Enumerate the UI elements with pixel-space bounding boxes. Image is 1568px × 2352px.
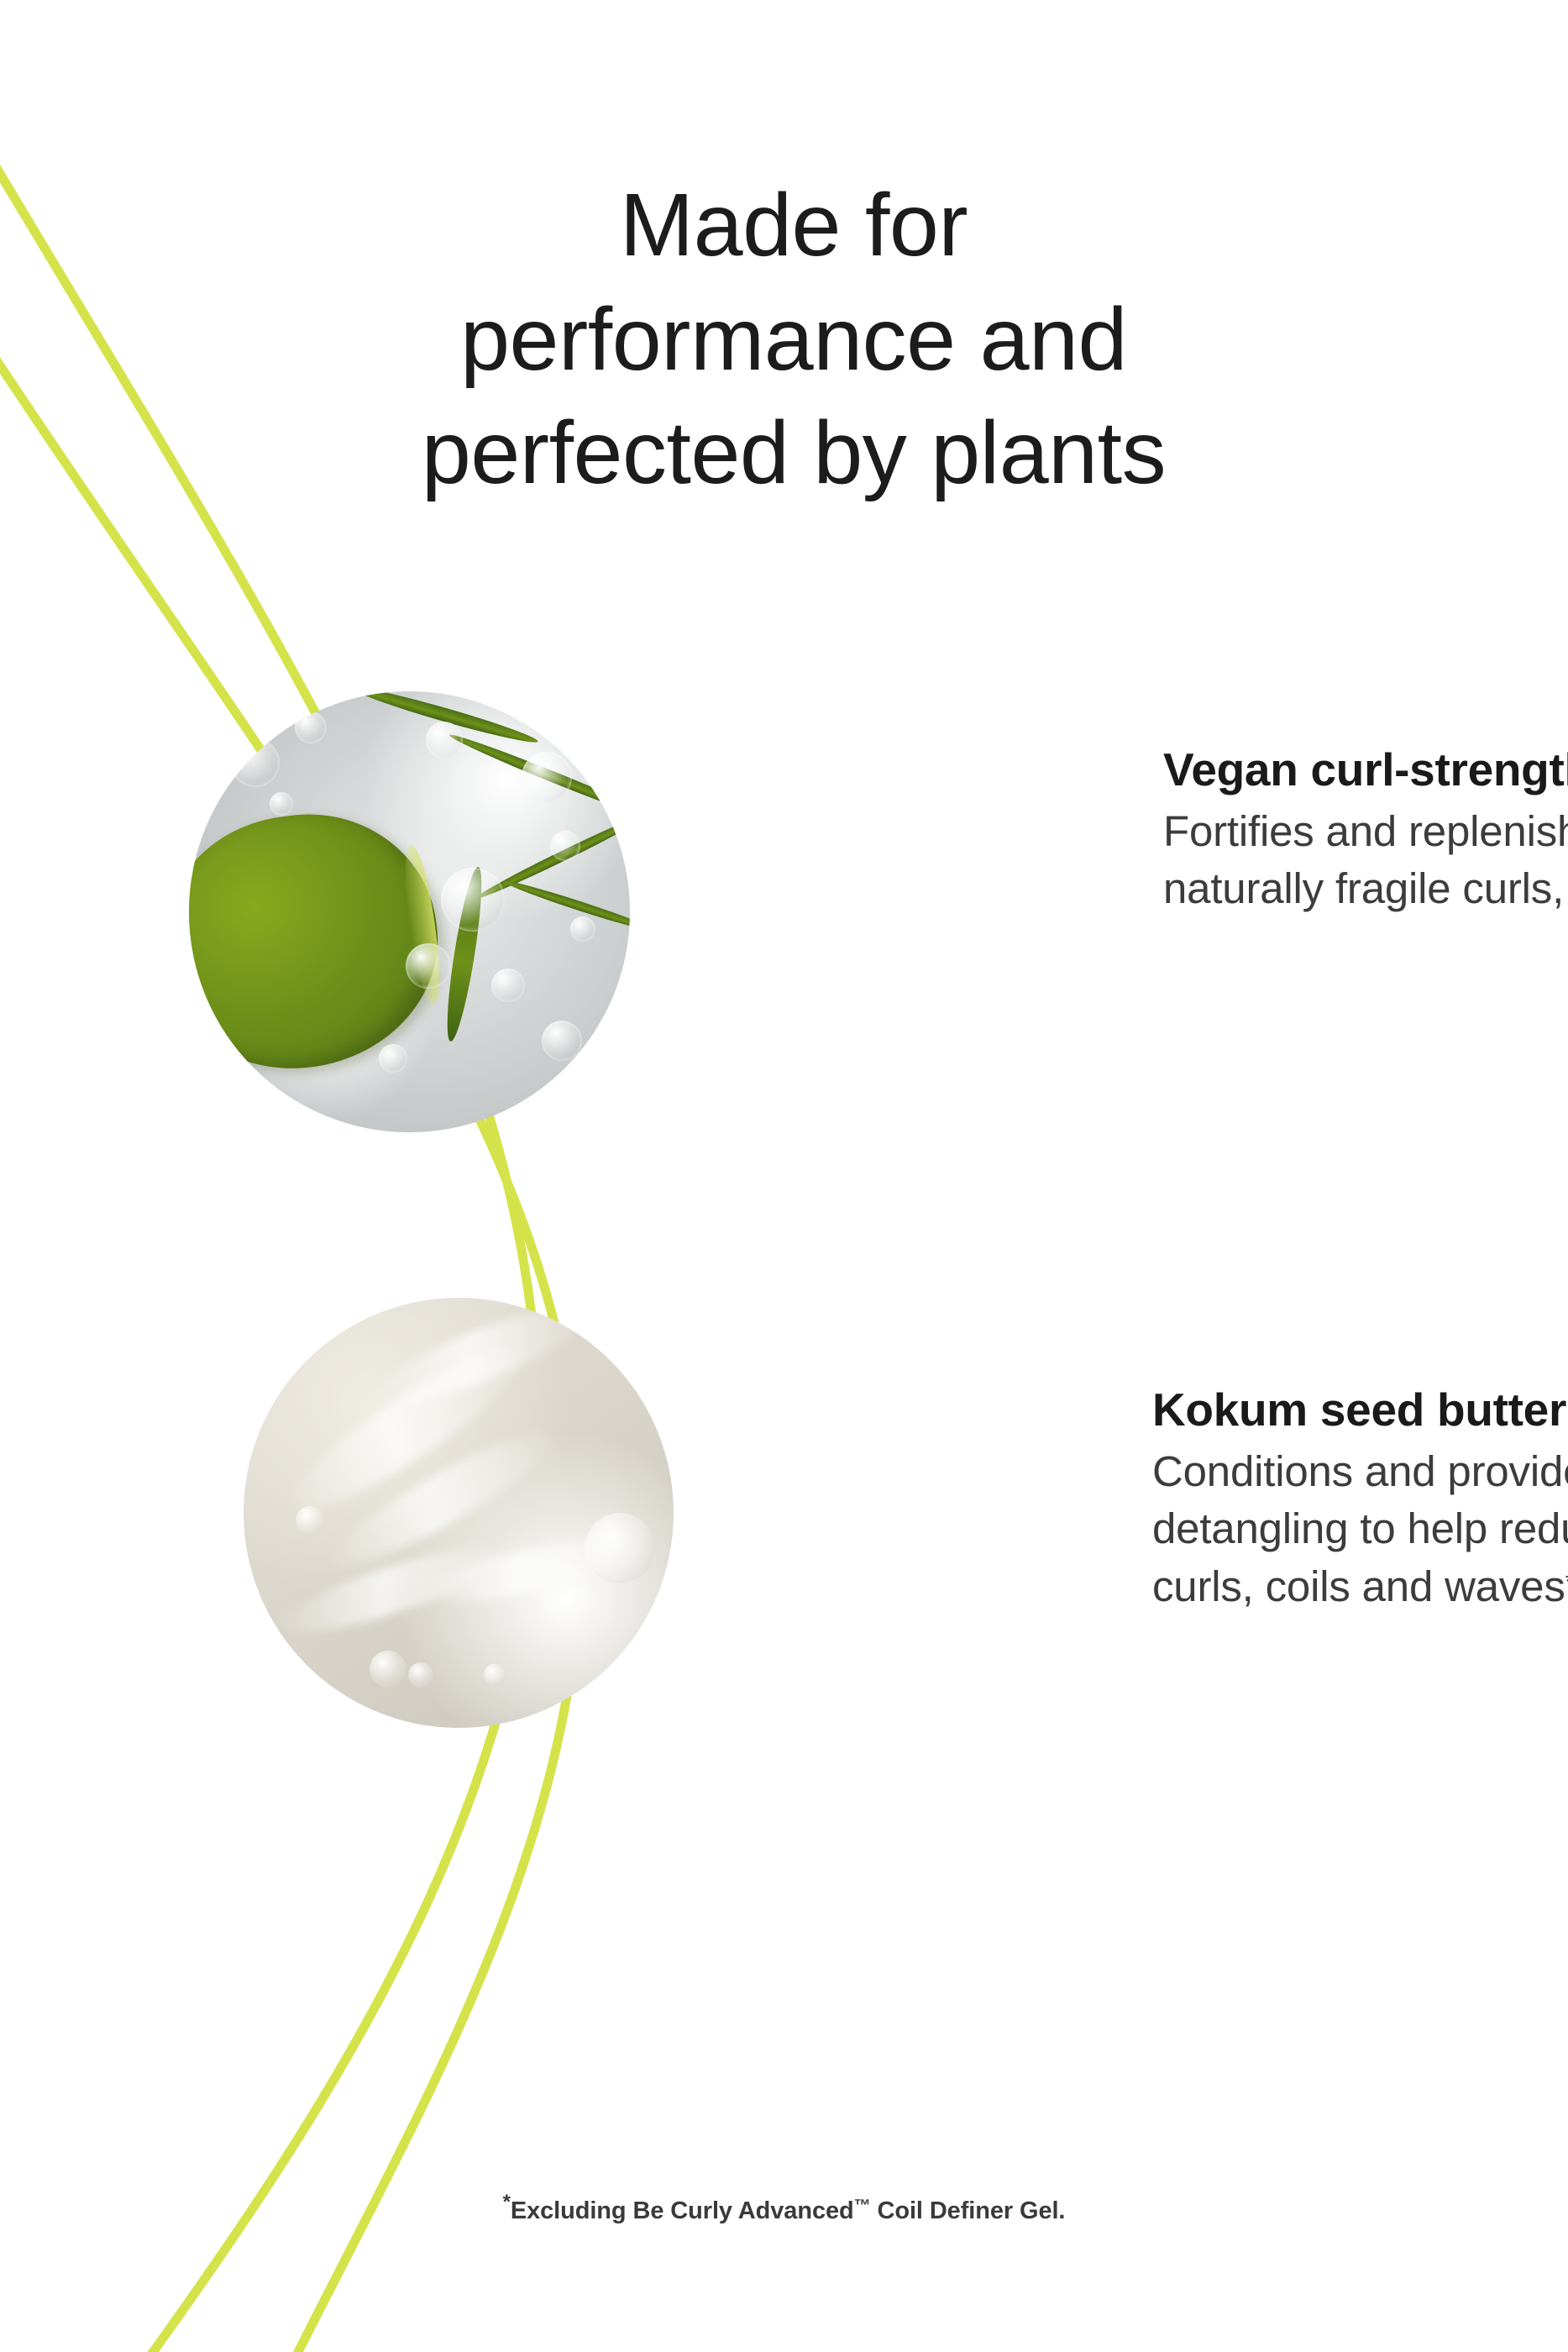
page-title: Made for performance and perfected by pl… — [277, 169, 1310, 511]
gel-bubble-7 — [406, 943, 451, 989]
gel-bubble-1 — [231, 738, 280, 787]
ingredient-item-vegan-peptide: Vegan curl-strengthening peptide Fortifi… — [189, 691, 1568, 1132]
butter-bubble-4 — [484, 1664, 506, 1686]
gel-bubble-3 — [426, 722, 463, 759]
butter-bubble-1 — [585, 1513, 655, 1583]
gel-bubble-10 — [379, 1044, 407, 1073]
ingredient-description: Conditions and provides slip and detangl… — [1152, 1443, 1568, 1615]
gel-bubble-11 — [270, 792, 293, 816]
footnote-text-after: Coil Definer Gel. — [871, 2197, 1066, 2224]
footnote-asterisk: * — [503, 2191, 511, 2213]
headline-line-2: performance and — [277, 283, 1310, 397]
ingredient-description: Fortifies and replenishes strength for n… — [1163, 803, 1568, 918]
gel-bubble-6 — [441, 868, 505, 932]
headline-line-1: Made for — [277, 169, 1310, 283]
headline-line-3: perfected by plants — [277, 396, 1310, 511]
ingredient-item-kokum-butter: Kokum seed butter Conditions and provide… — [244, 1298, 1568, 1728]
vegan-peptide-gel-swatch — [189, 691, 630, 1132]
gel-bubble-8 — [491, 969, 525, 1002]
ingredient-benefits-poster: Made for performance and perfected by pl… — [0, 0, 1568, 2352]
ingredient-title: Kokum seed butter — [1152, 1382, 1568, 1438]
footnote-marker: * — [1565, 1568, 1568, 1594]
gel-bubble-2 — [295, 711, 327, 743]
ingredient-text-column: Kokum seed butter Conditions and provide… — [1152, 1298, 1568, 1615]
gel-bubble-9 — [542, 1021, 582, 1061]
footnote-text-before: Excluding Be Curly Advanced — [511, 2197, 854, 2224]
ingredient-text-column: Vegan curl-strengthening peptide Fortifi… — [1163, 691, 1568, 918]
butter-bubble-5 — [296, 1506, 324, 1535]
gel-bubble-12 — [570, 916, 595, 942]
gel-bubble-4 — [522, 752, 572, 802]
ingredient-description-text: Conditions and provides slip and detangl… — [1152, 1447, 1568, 1610]
trademark-icon: ™ — [854, 2197, 871, 2215]
butter-bubble-2 — [370, 1651, 406, 1688]
ingredient-title: Vegan curl-strengthening peptide — [1163, 742, 1568, 798]
kokum-seed-butter-swatch — [244, 1298, 674, 1728]
butter-bubble-3 — [408, 1662, 433, 1688]
footnote: *Excluding Be Curly Advanced™ Coil Defin… — [0, 2191, 1568, 2225]
gel-bubble-5 — [550, 831, 580, 861]
